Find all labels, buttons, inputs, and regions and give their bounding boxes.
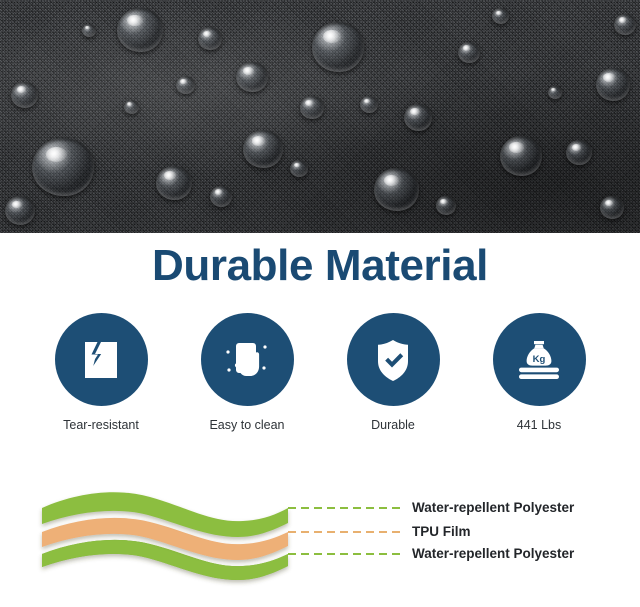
- shield-check-icon: [367, 334, 419, 386]
- water-droplet: [210, 186, 232, 207]
- water-droplet: [312, 22, 364, 72]
- fabric-photo: [0, 0, 640, 233]
- water-droplet: [300, 96, 324, 119]
- layers-illustration: [0, 470, 640, 607]
- feature-label: 441 Lbs: [517, 418, 561, 433]
- water-droplet: [374, 168, 419, 211]
- water-droplet: [117, 8, 163, 52]
- page-title: Durable Material: [0, 243, 640, 289]
- water-droplet: [124, 100, 139, 114]
- feature-list: Tear-resistant Easy to clean: [0, 313, 640, 433]
- water-droplet: [404, 104, 432, 131]
- feature-icon-circle: [55, 313, 148, 406]
- water-droplet: [614, 14, 636, 35]
- feature-icon-circle: Kg: [493, 313, 586, 406]
- water-droplet: [11, 82, 38, 108]
- water-droplet: [176, 76, 195, 94]
- water-droplet: [436, 196, 456, 215]
- feature-icon-circle: [201, 313, 294, 406]
- water-droplet: [492, 8, 509, 24]
- weight-bag-icon: Kg: [511, 332, 567, 388]
- feature-item-durable: Durable: [345, 313, 442, 433]
- feature-label: Tear-resistant: [63, 418, 139, 433]
- layer-label-bottom: Water-repellent Polyester: [412, 546, 574, 562]
- weight-unit-text: Kg: [533, 354, 546, 365]
- water-droplet: [243, 130, 283, 168]
- feature-item-weight-capacity: Kg 441 Lbs: [491, 313, 588, 433]
- water-droplet: [198, 27, 222, 50]
- water-droplet: [156, 166, 192, 200]
- water-droplet: [82, 24, 96, 37]
- water-droplet: [458, 42, 480, 63]
- water-droplet: [548, 86, 562, 99]
- water-droplet: [5, 196, 35, 225]
- water-droplet: [360, 96, 378, 113]
- water-droplet: [236, 62, 268, 92]
- layer-label-middle: TPU Film: [412, 524, 471, 540]
- infographic-page: Durable Material Tear-resistant: [0, 0, 640, 607]
- torn-sheet-icon: [75, 334, 127, 386]
- water-droplet: [600, 196, 624, 219]
- water-droplet: [32, 138, 94, 196]
- feature-item-tear-resistant: Tear-resistant: [53, 313, 150, 433]
- feature-icon-circle: [347, 313, 440, 406]
- water-droplet: [596, 68, 630, 101]
- water-droplet: [290, 160, 308, 177]
- water-droplet: [500, 136, 542, 176]
- layer-label-top: Water-repellent Polyester: [412, 500, 574, 516]
- water-droplet: [566, 140, 592, 165]
- material-layers-diagram: Water-repellent Polyester TPU Film Water…: [0, 470, 640, 607]
- feature-label: Easy to clean: [209, 418, 284, 433]
- hand-wiping-cloth-icon: [219, 332, 275, 388]
- feature-item-easy-to-clean: Easy to clean: [199, 313, 296, 433]
- feature-label: Durable: [371, 418, 415, 433]
